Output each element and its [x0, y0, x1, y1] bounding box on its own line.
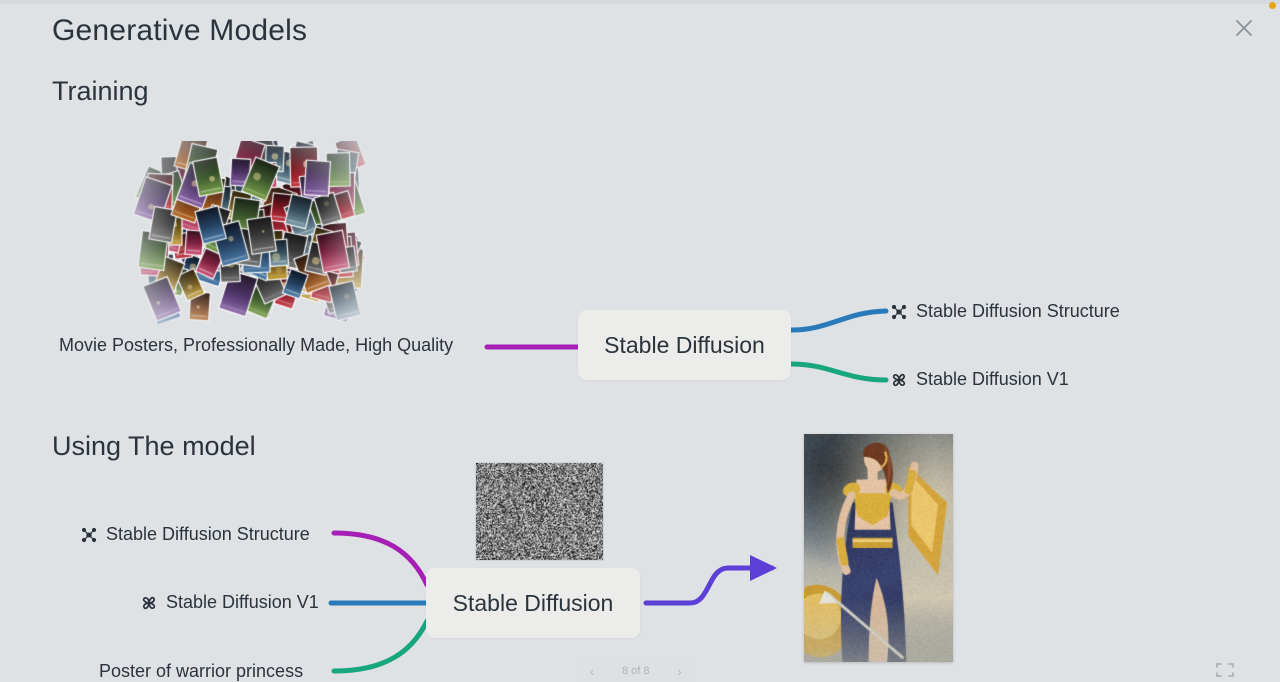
label-using-input-structure[interactable]: Stable Diffusion Structure — [80, 524, 310, 545]
fullscreen-icon — [1214, 660, 1236, 680]
wire-training-v1 — [791, 364, 886, 380]
next-page-button[interactable]: › — [668, 660, 692, 682]
label-using-input-prompt-text: Poster of warrior princess — [99, 661, 303, 682]
label-using-input-structure-text: Stable Diffusion Structure — [106, 524, 310, 545]
label-training-output-v1[interactable]: Stable Diffusion V1 — [890, 369, 1069, 390]
label-training-output-structure-text: Stable Diffusion Structure — [916, 301, 1120, 322]
prev-page-button[interactable]: ‹ — [580, 660, 604, 682]
close-button[interactable] — [1230, 14, 1258, 42]
node-graph-icon — [890, 303, 908, 321]
node-graph-icon — [80, 526, 98, 544]
page-counter: 8 of 8 — [608, 660, 664, 682]
swirl-icon — [140, 594, 158, 612]
wire-training-structure — [791, 311, 886, 330]
label-training-input: Movie Posters, Professionally Made, High… — [59, 335, 453, 356]
label-using-input-v1[interactable]: Stable Diffusion V1 — [140, 592, 319, 613]
window-top-strip — [0, 0, 1280, 4]
section-heading-using: Using The model — [52, 431, 256, 462]
wire-using-prompt — [334, 621, 427, 671]
wire-using-output-arrow — [646, 568, 772, 603]
close-icon — [1230, 14, 1258, 42]
latent-noise-image — [475, 462, 604, 561]
label-training-input-text: Movie Posters, Professionally Made, High… — [59, 335, 453, 356]
wire-using-structure — [334, 533, 427, 585]
fullscreen-button[interactable] — [1214, 660, 1236, 680]
status-dot — [1269, 2, 1276, 9]
label-training-output-v1-text: Stable Diffusion V1 — [916, 369, 1069, 390]
label-using-input-v1-text: Stable Diffusion V1 — [166, 592, 319, 613]
node-stable-diffusion-training[interactable]: Stable Diffusion — [578, 310, 791, 380]
swirl-icon — [890, 371, 908, 389]
label-training-output-structure[interactable]: Stable Diffusion Structure — [890, 301, 1120, 322]
page-title: Generative Models — [52, 14, 307, 48]
training-dataset-image — [133, 141, 371, 325]
pagination[interactable]: ‹ 8 of 8 › — [580, 660, 692, 682]
section-heading-training: Training — [52, 76, 149, 107]
presentation-slide: Generative Models Training Using The mod… — [0, 0, 1280, 682]
label-using-input-prompt: Poster of warrior princess — [99, 661, 303, 682]
node-stable-diffusion-using[interactable]: Stable Diffusion — [426, 568, 640, 638]
generated-output-image — [804, 434, 953, 662]
